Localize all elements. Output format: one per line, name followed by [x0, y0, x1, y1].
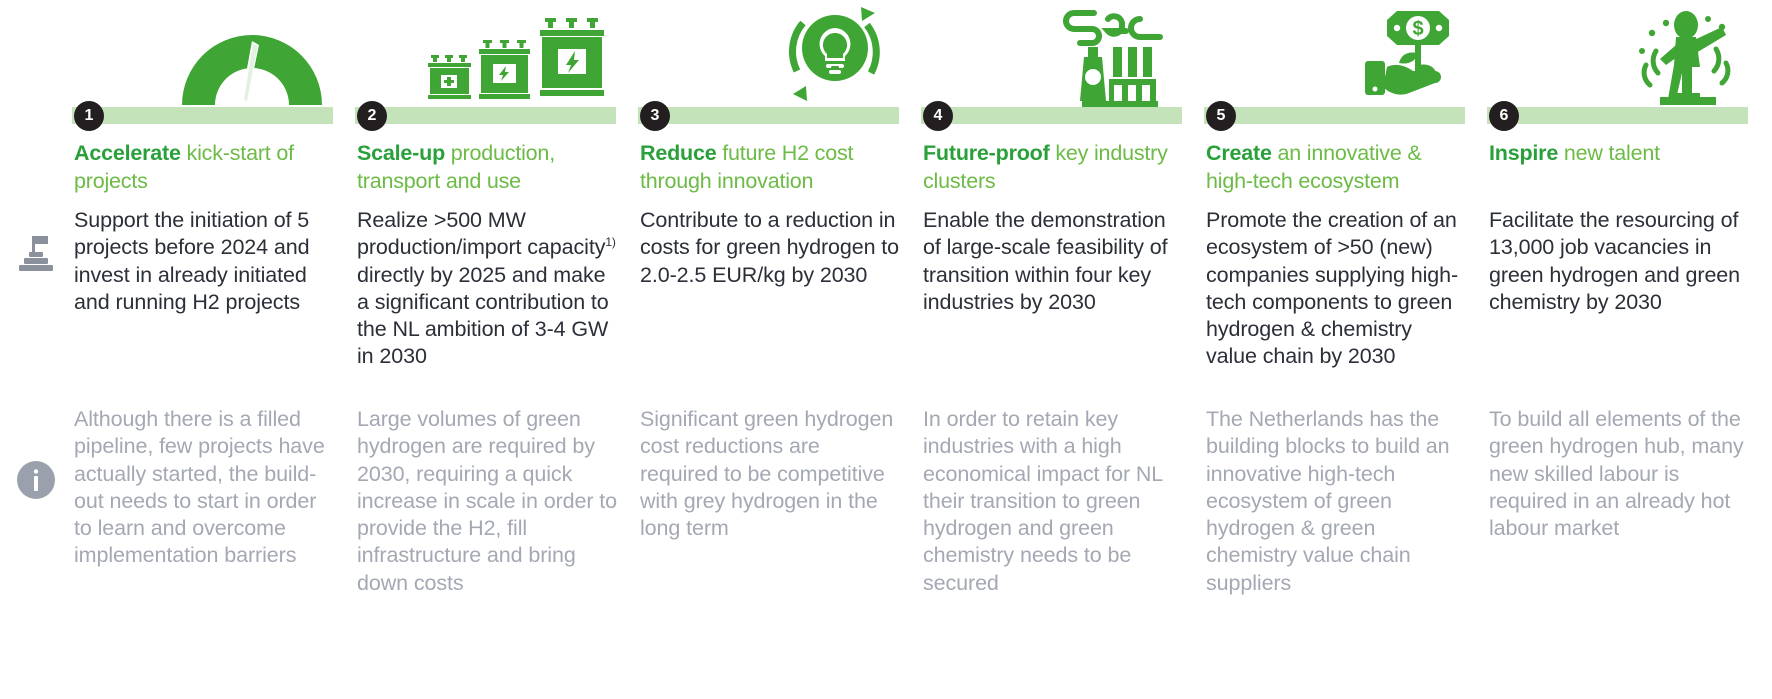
footnote-marker-2: 1) — [605, 235, 615, 249]
pillar-headline-5: Create an innovative & high-tech ecosyst… — [1206, 140, 1464, 195]
icon-zone-2 — [355, 8, 616, 112]
svg-text:$: $ — [1412, 18, 1423, 40]
hand-money-plant-icon: $ — [1343, 5, 1459, 112]
icon-zone-4 — [921, 8, 1182, 112]
pillar-body-5: Promote the creation of an ecosystem of … — [1206, 207, 1468, 371]
step-badge-2: 2 — [357, 101, 387, 131]
pillar-note-2: Large volumes of green hydrogen are requ… — [357, 406, 619, 597]
pillar-body-pre-2: Realize >500 MW production/import capaci… — [357, 208, 605, 259]
factory-smokestacks-icon — [1056, 5, 1176, 112]
pillar-headline-lead-6: Inspire — [1489, 141, 1558, 165]
pillar-body-post-2: directly by 2025 and make a significant … — [357, 263, 609, 369]
pillar-note-3: Significant green hydrogen cost reductio… — [640, 406, 902, 542]
speedometer-gauge-icon — [177, 15, 327, 112]
flag-on-podium-icon — [8, 222, 64, 278]
pillar-headline-lead-1: Accelerate — [74, 141, 181, 165]
pillar-column-3: 3 Reduce future H2 cost through innovati… — [638, 0, 921, 699]
gear-lightbulb-recycle-icon — [775, 3, 893, 112]
icon-zone-6 — [1487, 8, 1748, 112]
pillar-headline-4: Future-proof key industry clusters — [923, 140, 1181, 195]
scaling-battery-units-icon — [425, 7, 610, 112]
pillar-headline-lead-3: Reduce — [640, 141, 716, 165]
icon-zone-3 — [638, 8, 899, 112]
pillar-column-4: 4 Future-proof key industry clusters Ena… — [921, 0, 1204, 699]
pillar-note-1: Although there is a filled pipeline, few… — [74, 406, 336, 570]
pillar-headline-lead-5: Create — [1206, 141, 1272, 165]
step-badge-6: 6 — [1489, 101, 1519, 131]
pillar-note-5: The Netherlands has the building blocks … — [1206, 406, 1468, 597]
pillar-body-6: Facilitate the resourcing of 13,000 job … — [1489, 207, 1751, 316]
step-badge-3: 3 — [640, 101, 670, 131]
pillar-column-2: 2 Scale-up production, transport and use… — [355, 0, 638, 699]
pillar-headline-lead-2: Scale-up — [357, 141, 445, 165]
progress-rail-4 — [921, 107, 1182, 124]
progress-rail-5 — [1204, 107, 1465, 124]
pillar-headline-1: Accelerate kick-start of projects — [74, 140, 332, 195]
person-celebrating-podium-icon — [1630, 7, 1742, 112]
progress-rail-3 — [638, 107, 899, 124]
row-label-gutter — [0, 0, 72, 699]
step-badge-4: 4 — [923, 101, 953, 131]
pillar-note-6: To build all elements of the green hydro… — [1489, 406, 1751, 542]
pillar-headline-6: Inspire new talent — [1489, 140, 1747, 168]
pillar-body-4: Enable the demonstration of large-scale … — [923, 207, 1185, 316]
info-circle-icon — [8, 452, 64, 508]
pillar-body-1: Support the initiation of 5 projects bef… — [74, 207, 336, 316]
pillar-headline-lead-4: Future-proof — [923, 141, 1050, 165]
pillar-column-6: 6 Inspire new talent Facilitate the reso… — [1487, 0, 1770, 699]
icon-zone-5: $ — [1204, 8, 1465, 112]
pillar-note-4: In order to retain key industries with a… — [923, 406, 1185, 597]
infographic-root: 1 Accelerate kick-start of projects Supp… — [0, 0, 1772, 699]
pillar-body-2: Realize >500 MW production/import capaci… — [357, 207, 619, 371]
pillar-headline-rest-6: new talent — [1558, 141, 1660, 165]
pillar-column-5: $ — [1204, 0, 1487, 699]
progress-rail-6 — [1487, 107, 1748, 124]
progress-rail-1 — [72, 107, 333, 124]
pillar-headline-3: Reduce future H2 cost through innovation — [640, 140, 898, 195]
pillar-column-1: 1 Accelerate kick-start of projects Supp… — [72, 0, 355, 699]
pillar-body-3: Contribute to a reduction in costs for g… — [640, 207, 902, 289]
pillar-headline-2: Scale-up production, transport and use — [357, 140, 615, 195]
progress-rail-2 — [355, 107, 616, 124]
step-badge-1: 1 — [74, 101, 104, 131]
pillar-columns: 1 Accelerate kick-start of projects Supp… — [72, 0, 1772, 699]
step-badge-5: 5 — [1206, 101, 1236, 131]
icon-zone-1 — [72, 8, 333, 112]
